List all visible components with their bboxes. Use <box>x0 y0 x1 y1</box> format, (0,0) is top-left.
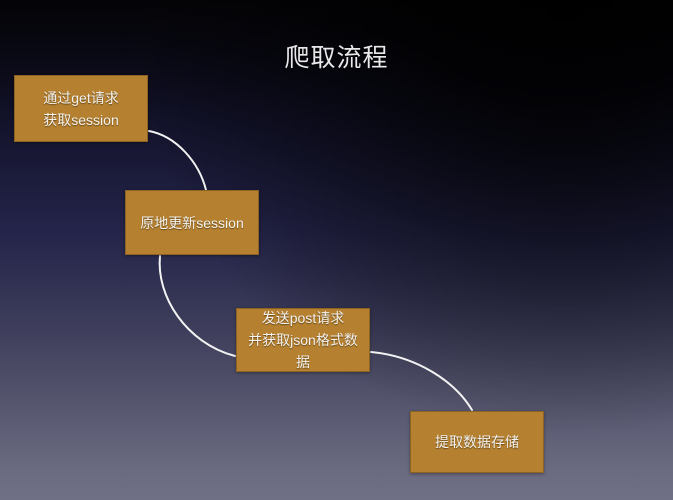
flow-node-extract-store[interactable]: 提取数据存储 <box>410 411 544 473</box>
flow-node-label: 发送post请求 并获取json格式数据 <box>237 307 369 373</box>
flow-node-update-session[interactable]: 原地更新session <box>125 190 259 255</box>
flow-node-label: 原地更新session <box>134 212 249 234</box>
flow-node-label: 通过get请求 获取session <box>37 87 124 131</box>
connector-1-2-path <box>149 131 206 190</box>
flow-node-get-session[interactable]: 通过get请求 获取session <box>14 75 148 142</box>
diagram-canvas: 爬取流程 通过get请求 获取session 原地更新session 发送pos… <box>0 0 673 500</box>
connector-2-3-path <box>160 256 235 356</box>
connector-3-4-path <box>371 352 472 410</box>
page-title: 爬取流程 <box>0 38 673 74</box>
flow-node-label: 提取数据存储 <box>429 431 525 453</box>
flow-node-post-json[interactable]: 发送post请求 并获取json格式数据 <box>236 308 370 372</box>
